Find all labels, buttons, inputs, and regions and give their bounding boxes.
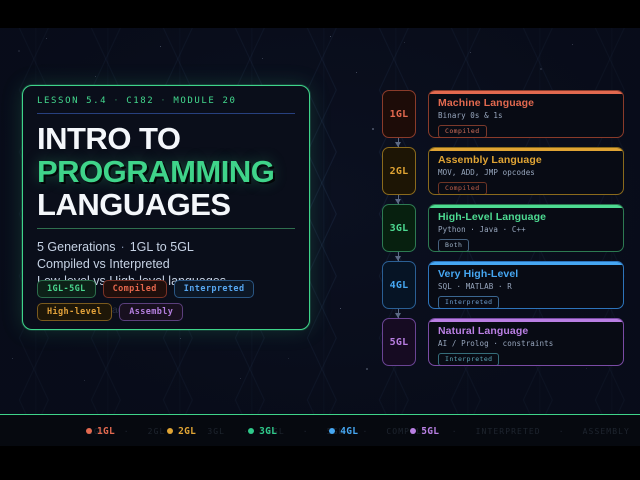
legend-item-list: 1GL2GL3GL4GL5GL xyxy=(0,415,640,446)
legend-label: 3GL xyxy=(259,426,277,437)
timeline-connector-icon xyxy=(398,195,399,204)
generation-row-1gl[interactable]: 1GL Machine Language Binary 0s & 1s Comp… xyxy=(382,90,624,138)
eyebrow-divider xyxy=(37,113,295,114)
legend-dot-icon xyxy=(86,428,92,434)
gen-card-4gl: Very High-Level SQL · MATLAB · R Interpr… xyxy=(428,261,624,309)
gen-card-2gl: Assembly Language MOV, ADD, JMP opcodes … xyxy=(428,147,624,195)
title-card: LESSON 5.4·C182·MODULE 20 INTRO TO PROGR… xyxy=(22,85,310,330)
star-dot xyxy=(84,380,85,381)
legend-label: 5GL xyxy=(421,426,439,437)
chip-row-2: High-level Assembly xyxy=(37,303,299,321)
legend-dot-icon xyxy=(248,428,254,434)
chip-high-level[interactable]: High-level xyxy=(37,303,112,321)
generation-row-3gl[interactable]: 3GL High-Level Language Python · Java · … xyxy=(382,204,624,252)
legend-item-1gl[interactable]: 1GL xyxy=(86,426,115,437)
gen-badge-1gl: 1GL xyxy=(382,90,416,138)
subtitle-row: 5 Generations·1GL to 5GL xyxy=(37,239,295,256)
gen-accent-bar xyxy=(429,262,623,265)
generation-row-2gl[interactable]: 2GL Assembly Language MOV, ADD, JMP opco… xyxy=(382,147,624,195)
gen-name: Very High-Level xyxy=(438,268,614,280)
gen-description: Python · Java · C++ xyxy=(438,225,614,234)
subtitle-b: 1GL to 5GL xyxy=(130,240,194,254)
timeline-connector-icon xyxy=(398,252,399,261)
gen-card-3gl: High-Level Language Python · Java · C++ … xyxy=(428,204,624,252)
gen-accent-bar xyxy=(429,319,623,322)
star-dot xyxy=(572,44,573,45)
star-dot xyxy=(288,358,289,359)
gen-badge-4gl: 4GL xyxy=(382,261,416,309)
gen-card-5gl: Natural Language AI / Prolog · constrain… xyxy=(428,318,624,366)
subtitle-dot: · xyxy=(121,240,125,254)
legend-label: 2GL xyxy=(178,426,196,437)
eyebrow-sep-1: · xyxy=(113,96,120,106)
star-dot xyxy=(356,72,357,73)
star-dot xyxy=(160,46,161,47)
lesson-eyebrow: LESSON 5.4·C182·MODULE 20 xyxy=(37,96,295,106)
star-dot xyxy=(180,338,181,339)
gen-tag: Interpreted xyxy=(438,353,499,366)
star-dot xyxy=(404,42,405,43)
gen-tag: Compiled xyxy=(438,182,487,195)
gen-name: Machine Language xyxy=(438,97,614,109)
subtitle-row: Compiled vs Interpreted xyxy=(37,256,295,273)
star-dot xyxy=(366,368,368,370)
legend-dot-icon xyxy=(329,428,335,434)
gen-description: AI / Prolog · constraints xyxy=(438,339,614,348)
title-divider xyxy=(37,228,295,229)
legend-bar: 1GL·2GL·3GL·4GL·5GL·COMPILED·INTERPRETED… xyxy=(0,414,640,446)
eyebrow-code: C182 xyxy=(126,96,154,106)
gen-name: Natural Language xyxy=(438,325,614,337)
legend-item-3gl[interactable]: 3GL xyxy=(248,426,277,437)
star-dot xyxy=(340,308,341,309)
chip-row-1: 1GL-5GL Compiled Interpreted xyxy=(37,280,299,298)
title-line-1: INTRO TO xyxy=(37,123,295,154)
eyebrow-lesson: LESSON 5.4 xyxy=(37,96,107,106)
eyebrow-sep-2: · xyxy=(160,96,167,106)
gen-description: Binary 0s & 1s xyxy=(438,111,614,120)
gen-card-1gl: Machine Language Binary 0s & 1s Compiled xyxy=(428,90,624,138)
gen-description: MOV, ADD, JMP opcodes xyxy=(438,168,614,177)
title-line-3: LANGUAGES xyxy=(37,189,295,220)
generation-row-5gl[interactable]: 5GL Natural Language AI / Prolog · const… xyxy=(382,318,624,366)
star-dot xyxy=(372,128,374,130)
star-dot xyxy=(12,358,13,359)
gen-accent-bar xyxy=(429,205,623,208)
legend-item-4gl[interactable]: 4GL xyxy=(329,426,358,437)
legend-label: 1GL xyxy=(97,426,115,437)
eyebrow-module: MODULE 20 xyxy=(173,96,236,106)
gen-tag: Compiled xyxy=(438,125,487,138)
timeline-connector-icon xyxy=(398,138,399,147)
gen-badge-2gl: 2GL xyxy=(382,147,416,195)
star-dot xyxy=(46,38,47,39)
gen-name: Assembly Language xyxy=(438,154,614,166)
legend-dot-icon xyxy=(410,428,416,434)
star-dot xyxy=(262,58,263,59)
generation-timeline: 1GL Machine Language Binary 0s & 1s Comp… xyxy=(382,90,624,375)
star-dot xyxy=(18,50,20,52)
gen-name: High-Level Language xyxy=(438,211,614,223)
slide-canvas: LESSON 5.4·C182·MODULE 20 INTRO TO PROGR… xyxy=(0,0,640,480)
legend-dot-icon xyxy=(167,428,173,434)
gen-accent-bar xyxy=(429,91,623,94)
gen-tag: Both xyxy=(438,239,469,252)
generation-row-4gl[interactable]: 4GL Very High-Level SQL · MATLAB · R Int… xyxy=(382,261,624,309)
legend-item-5gl[interactable]: 5GL xyxy=(410,426,439,437)
gen-tag: Interpreted xyxy=(438,296,499,309)
keyword-chip-group: 1GL-5GL Compiled Interpreted High-level … xyxy=(37,275,299,321)
gen-badge-5gl: 5GL xyxy=(382,318,416,366)
title-line-2-highlight: PROGRAMMING xyxy=(37,156,295,187)
star-dot xyxy=(95,76,96,77)
chip-interpreted[interactable]: Interpreted xyxy=(174,280,255,298)
gen-badge-3gl: 3GL xyxy=(382,204,416,252)
gen-description: SQL · MATLAB · R xyxy=(438,282,614,291)
star-dot xyxy=(470,52,471,53)
star-dot xyxy=(240,378,241,379)
timeline-connector-icon xyxy=(398,309,399,318)
star-dot xyxy=(330,36,331,37)
star-dot xyxy=(540,68,542,70)
legend-label: 4GL xyxy=(340,426,358,437)
chip-compiled[interactable]: Compiled xyxy=(103,280,167,298)
legend-item-2gl[interactable]: 2GL xyxy=(167,426,196,437)
subtitle-a: 5 Generations xyxy=(37,240,116,254)
gen-accent-bar xyxy=(429,148,623,151)
chip-1gl-5gl[interactable]: 1GL-5GL xyxy=(37,280,96,298)
chip-assembly[interactable]: Assembly xyxy=(119,303,183,321)
